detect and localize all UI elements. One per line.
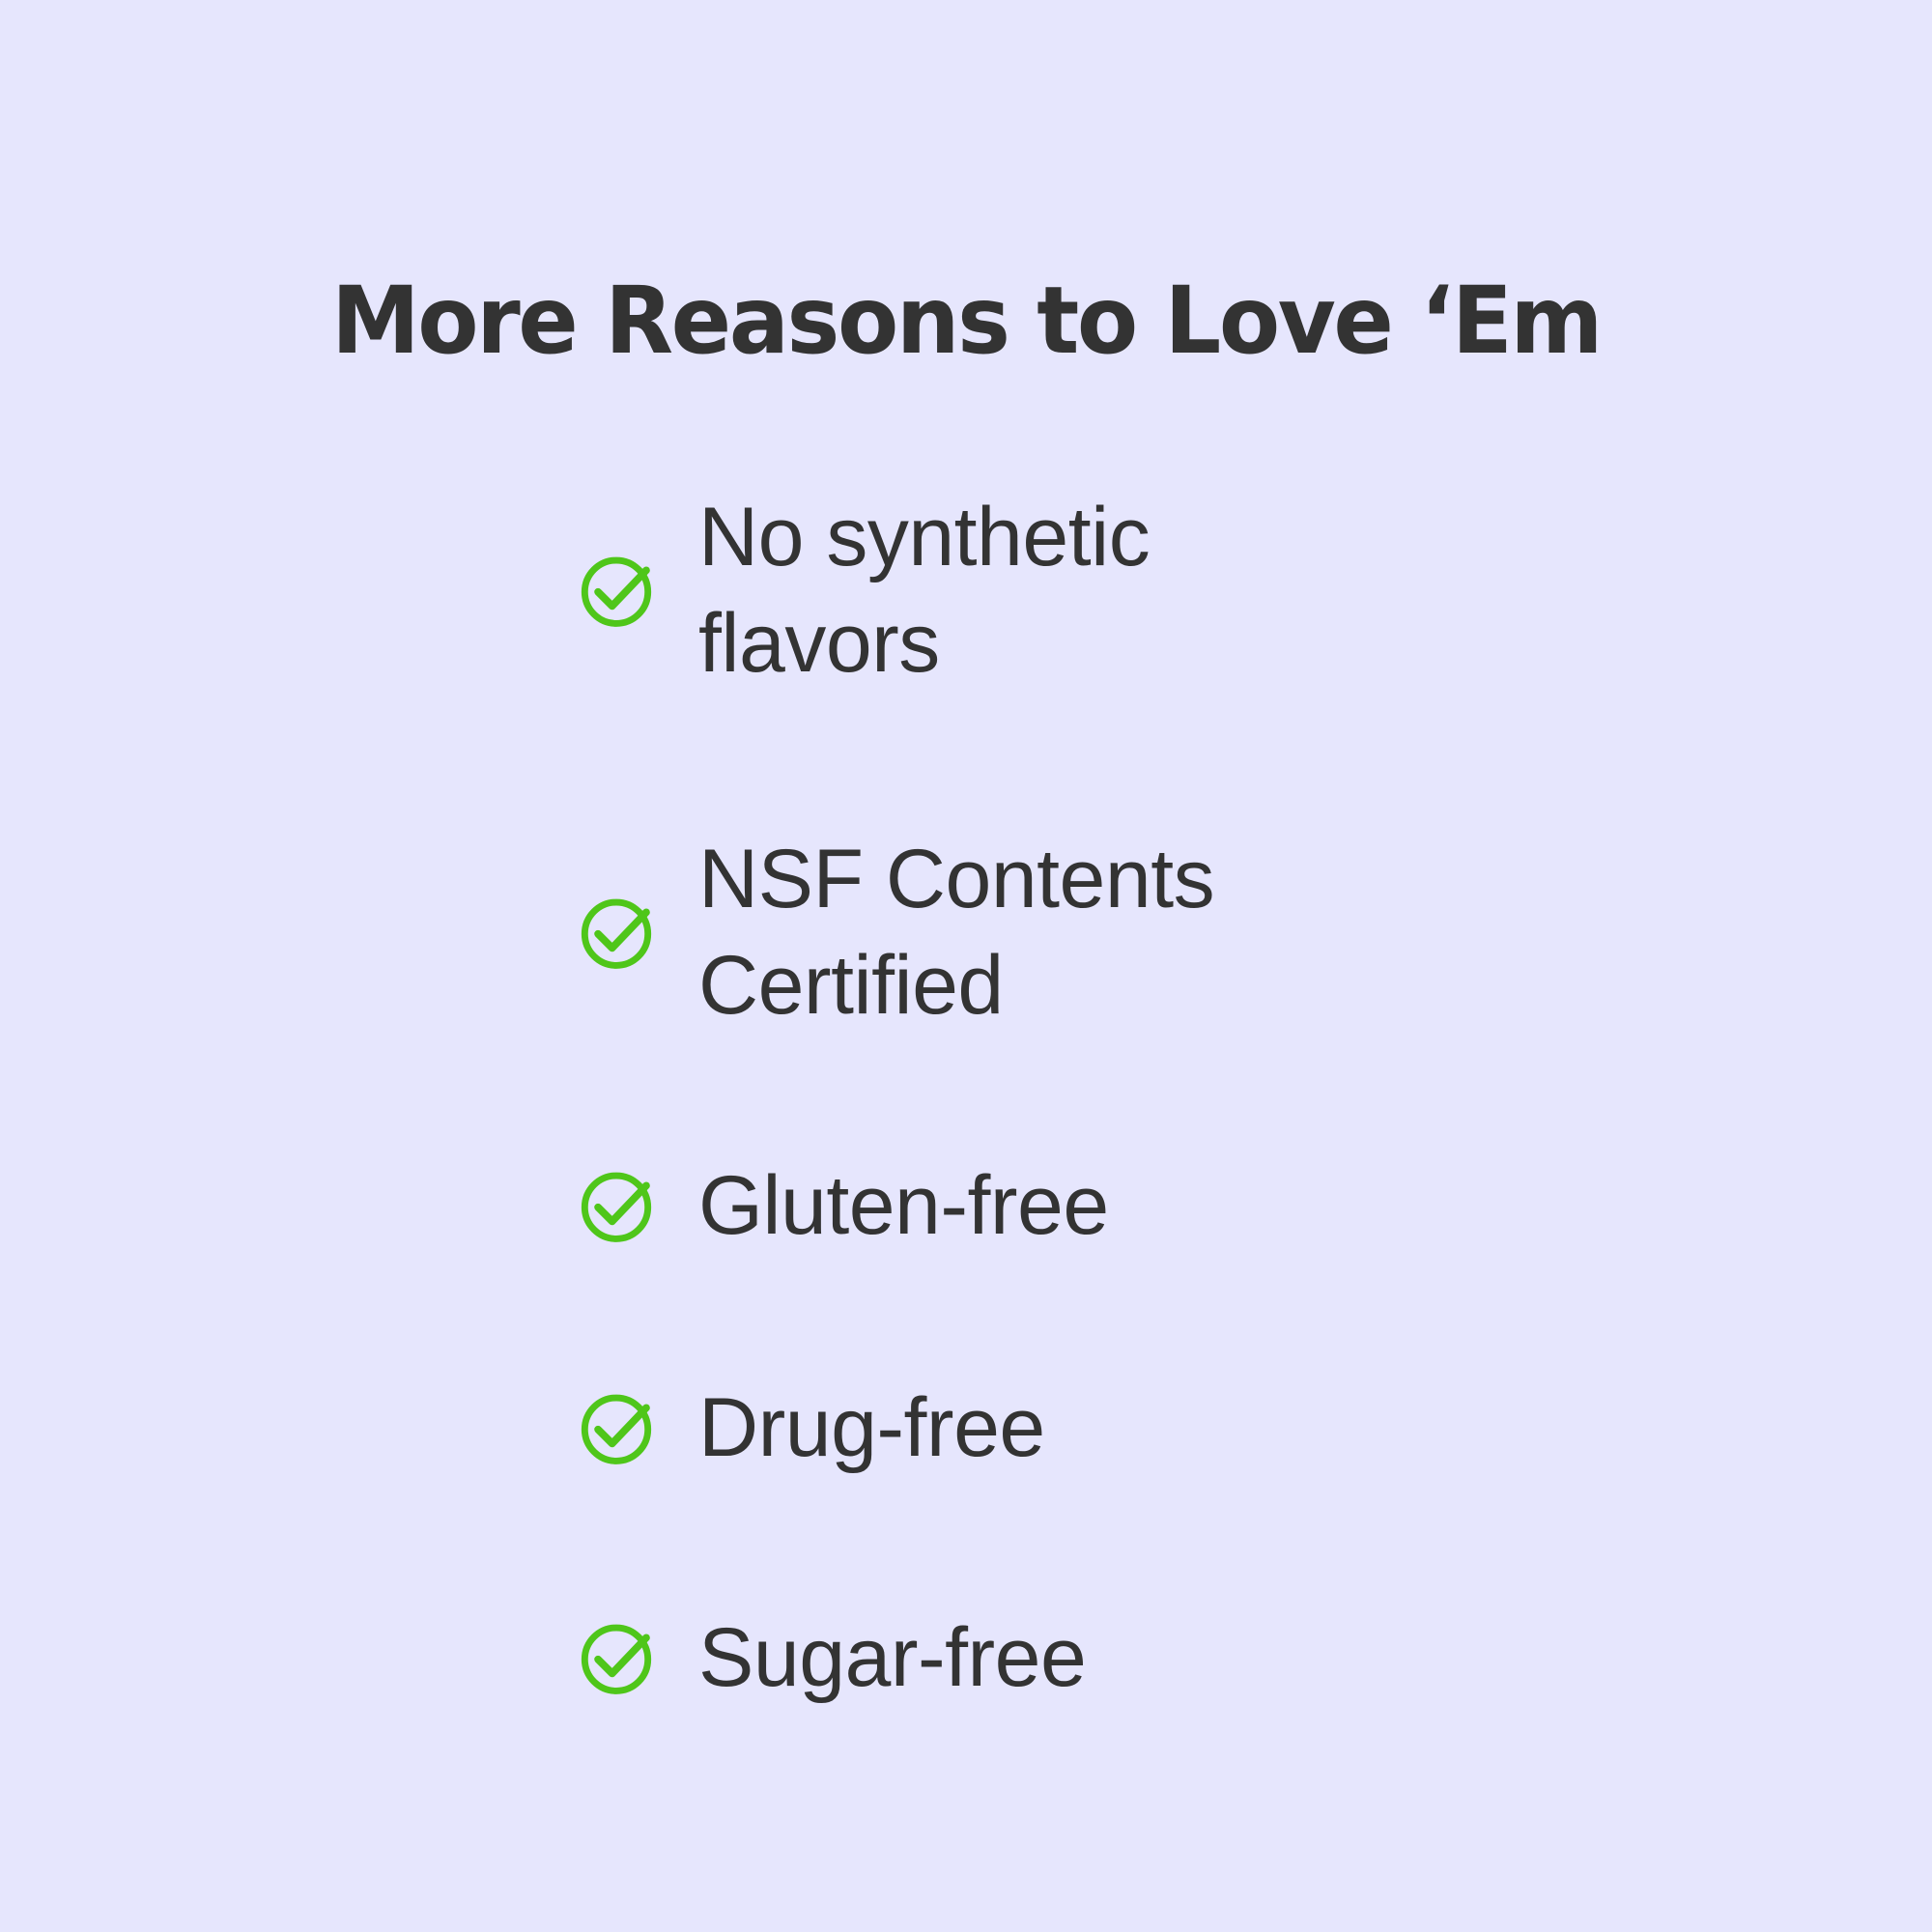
list-item-label: No synthetic flavors xyxy=(698,484,1220,696)
list-item: No synthetic flavors xyxy=(575,483,1541,697)
benefits-poster: More Reasons to Love ‘Em No synthetic fl… xyxy=(0,0,1932,1932)
benefits-list: No synthetic flavors NSF Contents Certif… xyxy=(575,483,1541,1716)
list-item: Gluten-free xyxy=(575,1148,1541,1264)
page-title: More Reasons to Love ‘Em xyxy=(39,272,1893,370)
list-item: Sugar-free xyxy=(575,1600,1541,1716)
list-item-label: Gluten-free xyxy=(698,1152,1109,1259)
list-item: NSF Contents Certified xyxy=(575,825,1541,1039)
list-item-label: Sugar-free xyxy=(698,1605,1086,1711)
list-item-label: NSF Contents Certified xyxy=(698,826,1220,1038)
check-circle-icon xyxy=(575,549,658,632)
list-item: Drug-free xyxy=(575,1370,1541,1486)
check-circle-icon xyxy=(575,1386,658,1469)
check-circle-icon xyxy=(575,1164,658,1247)
list-item-label: Drug-free xyxy=(698,1375,1045,1481)
check-circle-icon xyxy=(575,891,658,974)
check-circle-icon xyxy=(575,1616,658,1699)
